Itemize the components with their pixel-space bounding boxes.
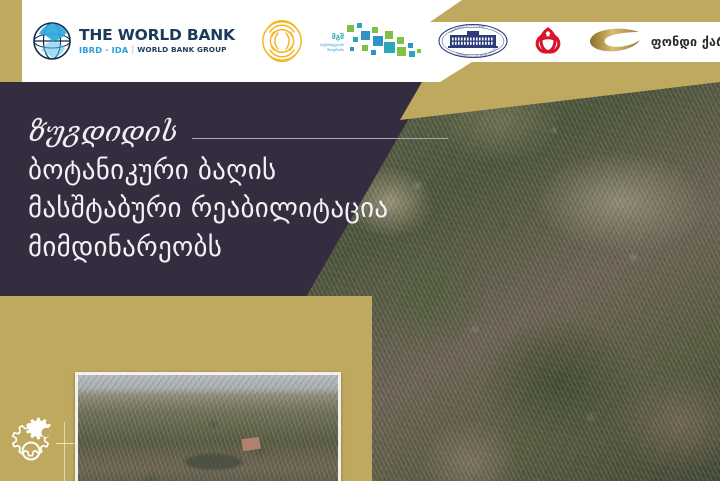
world-bank-subtitle: IBRD · IDA | WORLD BANK GROUP xyxy=(79,46,235,55)
fund-kartu-logo[interactable]: ფონდი ქართუ xyxy=(587,28,720,54)
inset-aerial-photo xyxy=(78,375,338,481)
script-subtitle-rule xyxy=(192,138,448,139)
world-bank-group-label: WORLD BANK GROUP xyxy=(137,46,226,53)
yellow-circle-logo[interactable] xyxy=(261,20,303,62)
building-seal-logo[interactable]: საქართველოს პარლამენტი თვითმმართველობის … xyxy=(437,22,509,60)
green-squares-logo[interactable]: მგშ საქართველოს მთავრობა xyxy=(317,21,423,61)
page-title: ბოტანიკური ბაღის მასშტაბური რეაბილიტაცია… xyxy=(28,152,428,267)
gears-icon-group xyxy=(8,414,68,472)
script-subtitle: ზუგდიდის xyxy=(27,118,180,146)
svg-text:მთავრობა: მთავრობა xyxy=(327,48,344,52)
fund-kartu-label: ფონდი ქართუ xyxy=(651,34,720,49)
logo-row: THE WORLD BANK IBRD · IDA | WORLD BANK G… xyxy=(22,0,720,82)
world-bank-globe-icon xyxy=(32,21,72,61)
world-bank-ibrd-ida: IBRD · IDA xyxy=(79,46,128,54)
inset-photo-pond xyxy=(185,454,242,470)
red-triquetra-logo[interactable] xyxy=(531,24,565,58)
header-gold-left-bar xyxy=(0,0,22,82)
page-title-line-3: მიმდინარეობს xyxy=(28,229,428,267)
svg-text:საქართველოს: საქართველოს xyxy=(320,43,344,47)
world-bank-wordmark: THE WORLD BANK IBRD · IDA | WORLD BANK G… xyxy=(79,28,235,54)
hero-stage: ზუგდიდის ბოტანიკური ბაღის მასშტაბური რეა… xyxy=(0,82,720,481)
poster-canvas: THE WORLD BANK IBRD · IDA | WORLD BANK G… xyxy=(0,0,720,481)
fund-swoosh-icon xyxy=(587,28,643,54)
page-title-line-2: მასშტაბური რეაბილიტაცია xyxy=(28,190,428,228)
world-bank-logo[interactable]: THE WORLD BANK IBRD · IDA | WORLD BANK G… xyxy=(32,21,235,61)
world-bank-sub-divider: | xyxy=(131,46,134,55)
inset-photo-house xyxy=(241,437,261,451)
green-squares-mark-icon: მგშ საქართველოს მთავრობა xyxy=(317,21,423,61)
gear-solid-icon xyxy=(26,418,51,440)
world-bank-title: THE WORLD BANK xyxy=(79,28,235,44)
page-title-line-1: ბოტანიკური ბაღის xyxy=(28,152,428,190)
script-subtitle-row: ზუგდიდის xyxy=(28,100,448,146)
svg-text:მგშ: მგშ xyxy=(332,33,344,41)
inset-photo-frame[interactable] xyxy=(75,372,341,481)
